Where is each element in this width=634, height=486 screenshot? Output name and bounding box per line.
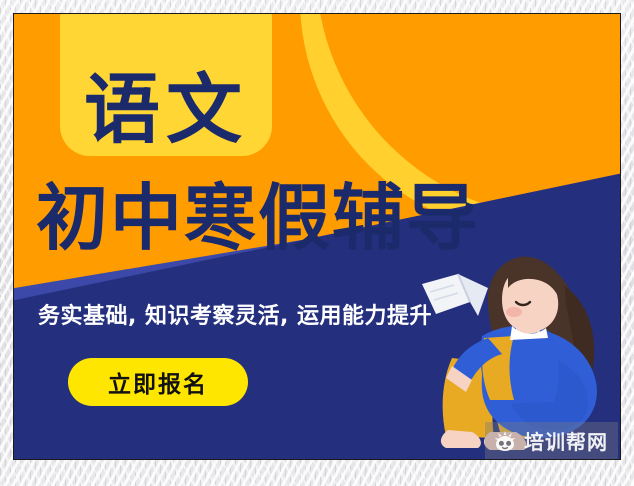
owl-eye-left (499, 440, 504, 445)
owl-eye-right (506, 440, 511, 445)
subject-badge-label: 语文 (84, 72, 248, 148)
promo-poster-card: 语文 初中寒假辅导 务实基础, 知识考察灵活, 运用能力提升 立即报名 (13, 13, 621, 460)
blush (506, 307, 522, 317)
site-watermark: 培训帮网 (485, 422, 618, 459)
poster-subtitle: 务实基础, 知识考察灵活, 运用能力提升 (38, 298, 432, 330)
poster-stage: 语文 初中寒假辅导 务实基础, 知识考察灵活, 运用能力提升 立即报名 (0, 0, 634, 486)
girl-figure (422, 257, 597, 450)
enroll-now-button[interactable]: 立即报名 (68, 358, 248, 406)
owl-icon (493, 430, 517, 452)
watermark-label: 培训帮网 (524, 426, 608, 455)
subject-badge: 语文 (60, 13, 272, 156)
